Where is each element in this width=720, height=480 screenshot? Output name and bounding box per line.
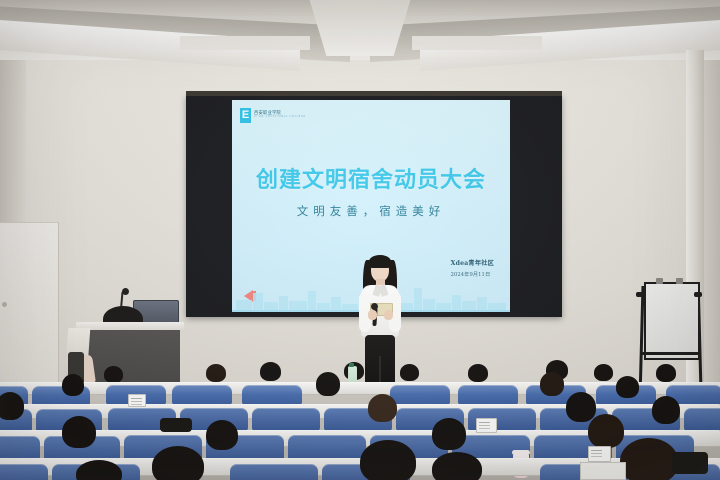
seat[interactable] (172, 385, 232, 405)
presenter-hair-top (369, 255, 391, 268)
audience-head (432, 452, 482, 480)
student-bag (672, 452, 708, 474)
flipchart-crossbar (640, 352, 700, 355)
open-notebook (580, 462, 626, 480)
logo-institution-sub: XI'AN VOCATIONAL COLLEGE (254, 116, 306, 119)
audience-head (540, 372, 564, 396)
ceiling (0, 0, 720, 60)
lecture-hall-scene: E 西安职业学院 XI'AN VOCATIONAL COLLEGE 创建文明宿舍… (0, 0, 720, 480)
audience-head (368, 394, 397, 422)
audience-head (62, 416, 96, 448)
audience-head (588, 414, 624, 448)
seat[interactable] (242, 385, 302, 405)
audience-head (432, 418, 466, 450)
desk-name-card (588, 446, 611, 462)
audience-head (616, 376, 639, 398)
audience-head (62, 374, 84, 396)
seat[interactable] (0, 464, 48, 480)
seat[interactable] (684, 408, 720, 431)
audience-head (566, 392, 596, 422)
slide-logo: E 西安职业学院 XI'AN VOCATIONAL COLLEGE (240, 108, 306, 123)
flipchart-pin-left (636, 292, 644, 297)
ceiling-step-right (412, 36, 542, 50)
audience-head (206, 364, 226, 382)
desk-name-card (128, 394, 146, 407)
slide-meta: Xdea青年社区 2024年9月11日 (451, 258, 494, 278)
audience-head (620, 438, 678, 480)
seat[interactable] (458, 385, 518, 405)
audience-head (260, 362, 281, 381)
seat[interactable] (252, 408, 320, 431)
wall-door-panel[interactable] (0, 222, 59, 391)
audience-head (468, 364, 488, 382)
audience-head (152, 446, 204, 480)
water-bottle-cap (349, 363, 354, 367)
audience-head (400, 364, 419, 381)
audience-head (656, 364, 676, 382)
audience-head (206, 420, 238, 450)
logo-mark-icon: E (240, 108, 251, 123)
presenter-hand-right (384, 310, 393, 320)
audience-head (0, 392, 24, 420)
slide-date: 2024年9月11日 (451, 271, 494, 278)
door-knob-icon[interactable] (2, 302, 7, 307)
seat[interactable] (390, 385, 450, 405)
ceiling-step-left (180, 36, 310, 50)
audience-head (360, 440, 416, 480)
desk-name-card (476, 418, 497, 433)
presenter-microphone-head-icon (371, 303, 378, 310)
presenter-hand-left (368, 310, 377, 320)
slide-subtitle: 文明友善，宿造美好 (232, 203, 510, 219)
slide-organization: Xdea青年社区 (451, 258, 494, 267)
flipchart-board[interactable] (644, 282, 700, 360)
audience-head (104, 366, 123, 383)
audience-head (316, 372, 340, 396)
slide-title: 创建文明宿舍动员大会 (232, 162, 510, 194)
podium-microphone-head-icon (122, 288, 129, 295)
audience-head (76, 460, 122, 480)
student-bag (160, 418, 192, 432)
flipchart-clip-left (656, 278, 663, 284)
seat[interactable] (230, 464, 318, 480)
logo-institution-text: 西安职业学院 XI'AN VOCATIONAL COLLEGE (254, 112, 306, 120)
audience-head (652, 396, 680, 424)
flipchart-clip-right (676, 278, 683, 284)
flipchart-pin-right (694, 292, 702, 297)
audience-head (594, 364, 613, 381)
